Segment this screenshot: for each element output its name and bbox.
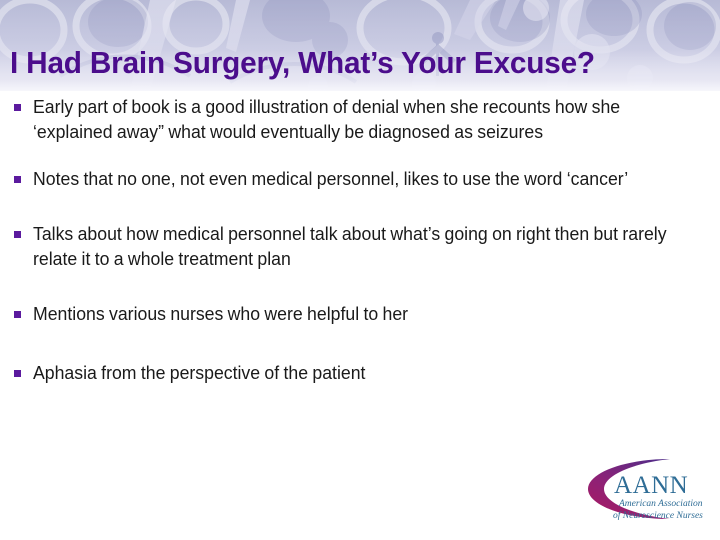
aann-tagline-line-2: of Neuroscience Nurses (613, 511, 717, 523)
square-bullet-icon (14, 311, 21, 318)
list-item: Notes that no one, not even medical pers… (0, 166, 720, 191)
list-item: Mentions various nurses who were helpful… (0, 301, 720, 326)
page-title: I Had Brain Surgery, What’s Your Excuse? (10, 46, 682, 80)
aann-tagline-line-1: American Association (619, 499, 717, 511)
slide: I Had Brain Surgery, What’s Your Excuse?… (0, 0, 720, 540)
square-bullet-icon (14, 231, 21, 238)
aann-logo: AANN American Association of Neuroscienc… (578, 455, 714, 527)
list-item-text: Mentions various nurses who were helpful… (33, 301, 681, 326)
list-item: Early part of book is a good illustratio… (0, 94, 720, 144)
list-item: Talks about how medical personnel talk a… (0, 221, 720, 271)
square-bullet-icon (14, 370, 21, 377)
square-bullet-icon (14, 176, 21, 183)
list-item-text: Notes that no one, not even medical pers… (33, 166, 681, 191)
bullet-list: Early part of book is a good illustratio… (0, 94, 720, 385)
aann-wordmark: AANN (614, 473, 688, 499)
list-item: Aphasia from the perspective of the pati… (0, 360, 720, 385)
list-item-text: Early part of book is a good illustratio… (33, 94, 681, 144)
list-item-text: Aphasia from the perspective of the pati… (33, 360, 681, 385)
list-item-text: Talks about how medical personnel talk a… (33, 221, 681, 271)
aann-tagline: American Association of Neuroscience Nur… (619, 499, 717, 522)
square-bullet-icon (14, 104, 21, 111)
